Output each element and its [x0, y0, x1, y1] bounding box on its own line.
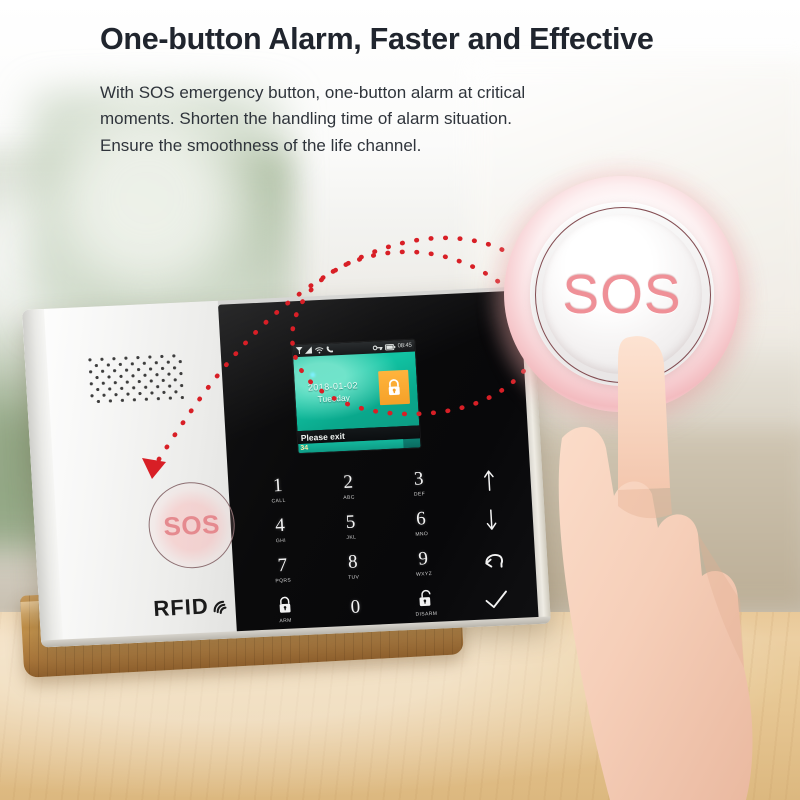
arrow-up-icon — [481, 469, 497, 492]
key-6[interactable]: 6MNO — [385, 502, 458, 545]
key-5[interactable]: 5JKL — [314, 505, 387, 548]
sim-icon — [305, 346, 313, 354]
key-2[interactable]: 2ABC — [312, 465, 385, 508]
lcd-status-left-icons — [296, 345, 334, 355]
key-lock-closed[interactable]: ARM — [249, 588, 322, 631]
key-number: 5 — [345, 513, 356, 532]
key-sublabel: ARM — [279, 617, 292, 624]
key-icon — [373, 344, 383, 351]
key-3[interactable]: 3DEF — [383, 462, 456, 505]
battery-icon — [385, 343, 396, 351]
key-sublabel: GHI — [276, 538, 286, 544]
rfid-label: RFID — [153, 594, 210, 623]
keypad[interactable]: 1CALL2ABC3DEF4GHI5JKL6MNO7PQRS8TUV9WXYZA… — [242, 459, 533, 632]
phone-icon — [326, 345, 334, 353]
key-check[interactable] — [460, 578, 533, 621]
key-4[interactable]: 4GHI — [244, 508, 317, 551]
key-sublabel: MNO — [415, 531, 428, 538]
lcd-glare-dot — [310, 372, 315, 377]
rfid-area: RFID — [153, 593, 232, 623]
key-arrow-down[interactable] — [455, 498, 528, 541]
rfid-waves-icon — [210, 594, 231, 615]
wifi-icon — [315, 346, 324, 354]
lcd-message: Please exit — [301, 430, 345, 442]
lcd-screen: 08:45 2018-01-02 Tuesday Please exit — [292, 340, 420, 454]
key-7[interactable]: 7PQRS — [246, 548, 319, 591]
key-number: 1 — [273, 476, 284, 495]
lock-closed-icon — [277, 596, 293, 616]
product-marketing-image: SOS RFID — [0, 0, 800, 800]
description-line: With SOS emergency button, one-button al… — [100, 80, 660, 106]
check-icon — [484, 589, 509, 610]
lcd-date: 2018-01-02 — [308, 380, 359, 392]
key-number: 2 — [343, 473, 354, 492]
lcd-countdown-value: 34 — [300, 445, 308, 452]
key-back-arrow[interactable] — [458, 538, 531, 581]
lock-icon — [386, 378, 403, 397]
lcd-status-right-icons: 08:45 — [373, 342, 412, 351]
lock-open-icon — [417, 589, 434, 609]
speaker-grille-icon — [87, 352, 186, 404]
key-sublabel: PQRS — [275, 577, 291, 584]
panel-sos-label: SOS — [163, 508, 221, 542]
wireless-alarm-panel[interactable]: SOS RFID — [22, 286, 551, 647]
key-number: 4 — [275, 516, 286, 535]
key-number: 8 — [348, 553, 359, 572]
key-9[interactable]: 9WXYZ — [387, 542, 460, 585]
key-sublabel: CALL — [271, 498, 285, 505]
lcd-arm-mode-tile — [378, 370, 410, 405]
description-text: With SOS emergency button, one-button al… — [100, 80, 660, 159]
key-sublabel: JKL — [346, 534, 356, 540]
lcd-weekday: Tuesday — [317, 393, 350, 405]
lcd-clock: 08:45 — [398, 343, 412, 350]
signal-icon — [296, 347, 303, 355]
key-8[interactable]: 8TUV — [317, 545, 390, 588]
key-number: 0 — [350, 597, 361, 616]
page-title: One-button Alarm, Faster and Effective — [100, 22, 740, 57]
description-line: Ensure the smoothness of the life channe… — [100, 133, 660, 159]
key-0[interactable]: 0 — [319, 585, 392, 628]
back-arrow-icon — [482, 550, 505, 571]
key-sublabel: DISARM — [415, 611, 437, 618]
key-sublabel: DEF — [414, 491, 426, 498]
index-finger — [618, 336, 670, 490]
key-sublabel: TUV — [348, 574, 360, 581]
key-1[interactable]: 1CALL — [242, 469, 315, 512]
hand-pressing-button — [548, 328, 800, 800]
description-line: moments. Shorten the handling time of al… — [100, 106, 660, 132]
key-number: 3 — [413, 470, 424, 489]
lcd-main-area: 2018-01-02 Tuesday — [293, 352, 419, 432]
arrow-down-icon — [483, 509, 499, 532]
key-number: 9 — [418, 549, 429, 568]
key-lock-open[interactable]: DISARM — [389, 582, 462, 625]
key-sublabel: WXYZ — [416, 571, 432, 578]
key-number: 6 — [416, 509, 427, 528]
key-number: 7 — [277, 556, 288, 575]
key-arrow-up[interactable] — [453, 459, 526, 502]
magnified-sos-label: SOS — [562, 262, 681, 326]
key-sublabel: ABC — [343, 494, 355, 501]
